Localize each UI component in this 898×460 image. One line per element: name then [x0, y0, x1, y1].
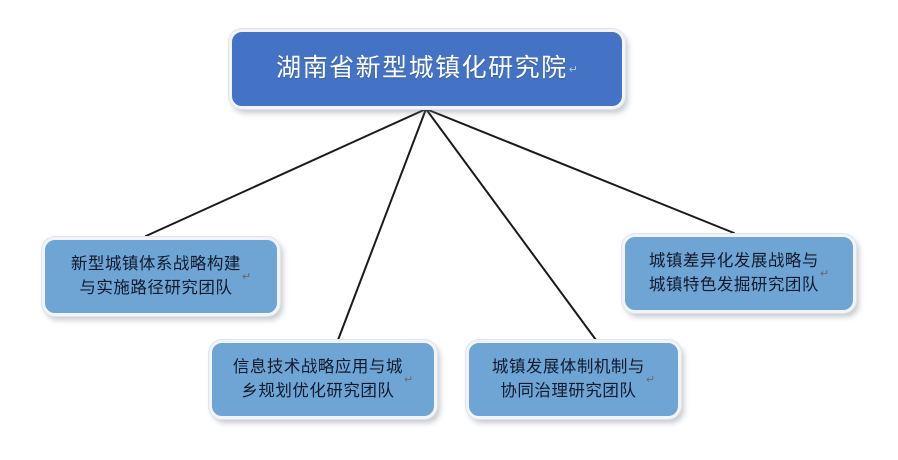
org-node-root-label: 湖南省新型城镇化研究院	[276, 51, 568, 87]
org-node-infotech-label: 信息技术战略应用与城 乡规划优化研究团队	[233, 356, 403, 403]
connector-root-to-infotech	[338, 109, 426, 340]
org-node-institution[interactable]: 城镇发展体制机制与 协同治理研究团队↵	[466, 340, 681, 419]
org-node-infotech[interactable]: 信息技术战略应用与城 乡规划优化研究团队↵	[209, 340, 437, 419]
org-node-differentiate-label: 城镇差异化发展战略与 城镇特色发掘研究团队	[649, 250, 819, 297]
return-mark-icon: ↵	[569, 63, 578, 76]
return-mark-icon: ↵	[404, 373, 413, 386]
org-node-strategy-label: 新型城镇体系战略构建 与实施路径研究团队	[71, 253, 241, 300]
connector-root-to-strategy	[146, 109, 426, 236]
connector-root-to-institution	[426, 109, 596, 340]
org-node-strategy[interactable]: 新型城镇体系战略构建 与实施路径研究团队↵	[42, 237, 280, 316]
org-node-differentiate[interactable]: 城镇差异化发展战略与 城镇特色发掘研究团队↵	[622, 234, 856, 313]
return-mark-icon: ↵	[820, 267, 829, 280]
org-node-institution-label: 城镇发展体制机制与 协同治理研究团队	[492, 356, 645, 403]
connector-root-to-differentiate	[426, 109, 734, 233]
org-chart-canvas: 湖南省新型城镇化研究院↵ 新型城镇体系战略构建 与实施路径研究团队↵ 信息技术战…	[0, 0, 898, 460]
org-node-root[interactable]: 湖南省新型城镇化研究院↵	[229, 29, 625, 109]
return-mark-icon: ↵	[646, 373, 655, 386]
return-mark-icon: ↵	[242, 270, 251, 283]
